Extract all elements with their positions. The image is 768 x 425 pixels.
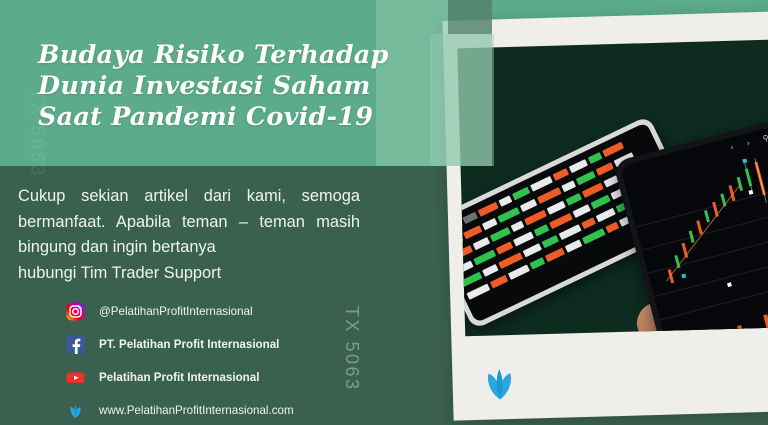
search-icon: ⚲: [762, 133, 768, 143]
lotus-website-icon: [66, 401, 85, 420]
social-label-instagram: @PelatihanProfitInternasional: [99, 305, 253, 318]
body-paragraph-last-line: hubungi Tim Trader Support: [18, 261, 360, 287]
chart-marker-low: [681, 274, 686, 279]
social-row-website[interactable]: www.PelatihanProfitInternasional.com: [66, 401, 294, 420]
chevron-right-icon: ›: [746, 138, 751, 147]
watermark-right: TX 5063: [341, 306, 362, 392]
title-line-1: Budaya Risiko Terhadap: [38, 40, 450, 71]
instagram-icon: [66, 302, 85, 321]
facebook-icon: [66, 335, 85, 354]
title-line-3: Saat Pandemi Covid-19: [38, 102, 450, 133]
body-paragraph-text: Cukup sekian artikel dari kami, semoga b…: [18, 187, 360, 256]
social-label-youtube: Pelatihan Profit Internasional: [99, 371, 259, 384]
social-label-website: www.PelatihanProfitInternasional.com: [99, 404, 294, 417]
title-line-2: Dunia Investasi Saham: [38, 71, 450, 102]
stock-market-photo: ‹ › ⚲: [457, 40, 768, 337]
body-paragraph: Cukup sekian artikel dari kami, semoga b…: [18, 184, 360, 286]
social-label-facebook: PT. Pelatihan Profit Internasional: [99, 338, 279, 351]
chart-marker-mid: [727, 282, 732, 287]
social-row-facebook[interactable]: PT. Pelatihan Profit Internasional: [66, 335, 294, 354]
social-row-instagram[interactable]: @PelatihanProfitInternasional: [66, 302, 294, 321]
dark-green-corner-pane: [448, 0, 492, 34]
social-links-list: @PelatihanProfitInternasional PT. Pelati…: [66, 302, 294, 420]
chevron-left-icon: ‹: [729, 142, 734, 151]
social-row-youtube[interactable]: Pelatihan Profit Internasional: [66, 368, 294, 387]
page-title: Budaya Risiko Terhadap Dunia Investasi S…: [38, 40, 450, 133]
chart-marker-high: [748, 190, 753, 195]
youtube-icon: [66, 368, 85, 387]
lotus-logo: [476, 366, 523, 406]
chart-trendline: [666, 184, 741, 282]
banner-canvas: ‹ › ⚲: [0, 0, 768, 425]
